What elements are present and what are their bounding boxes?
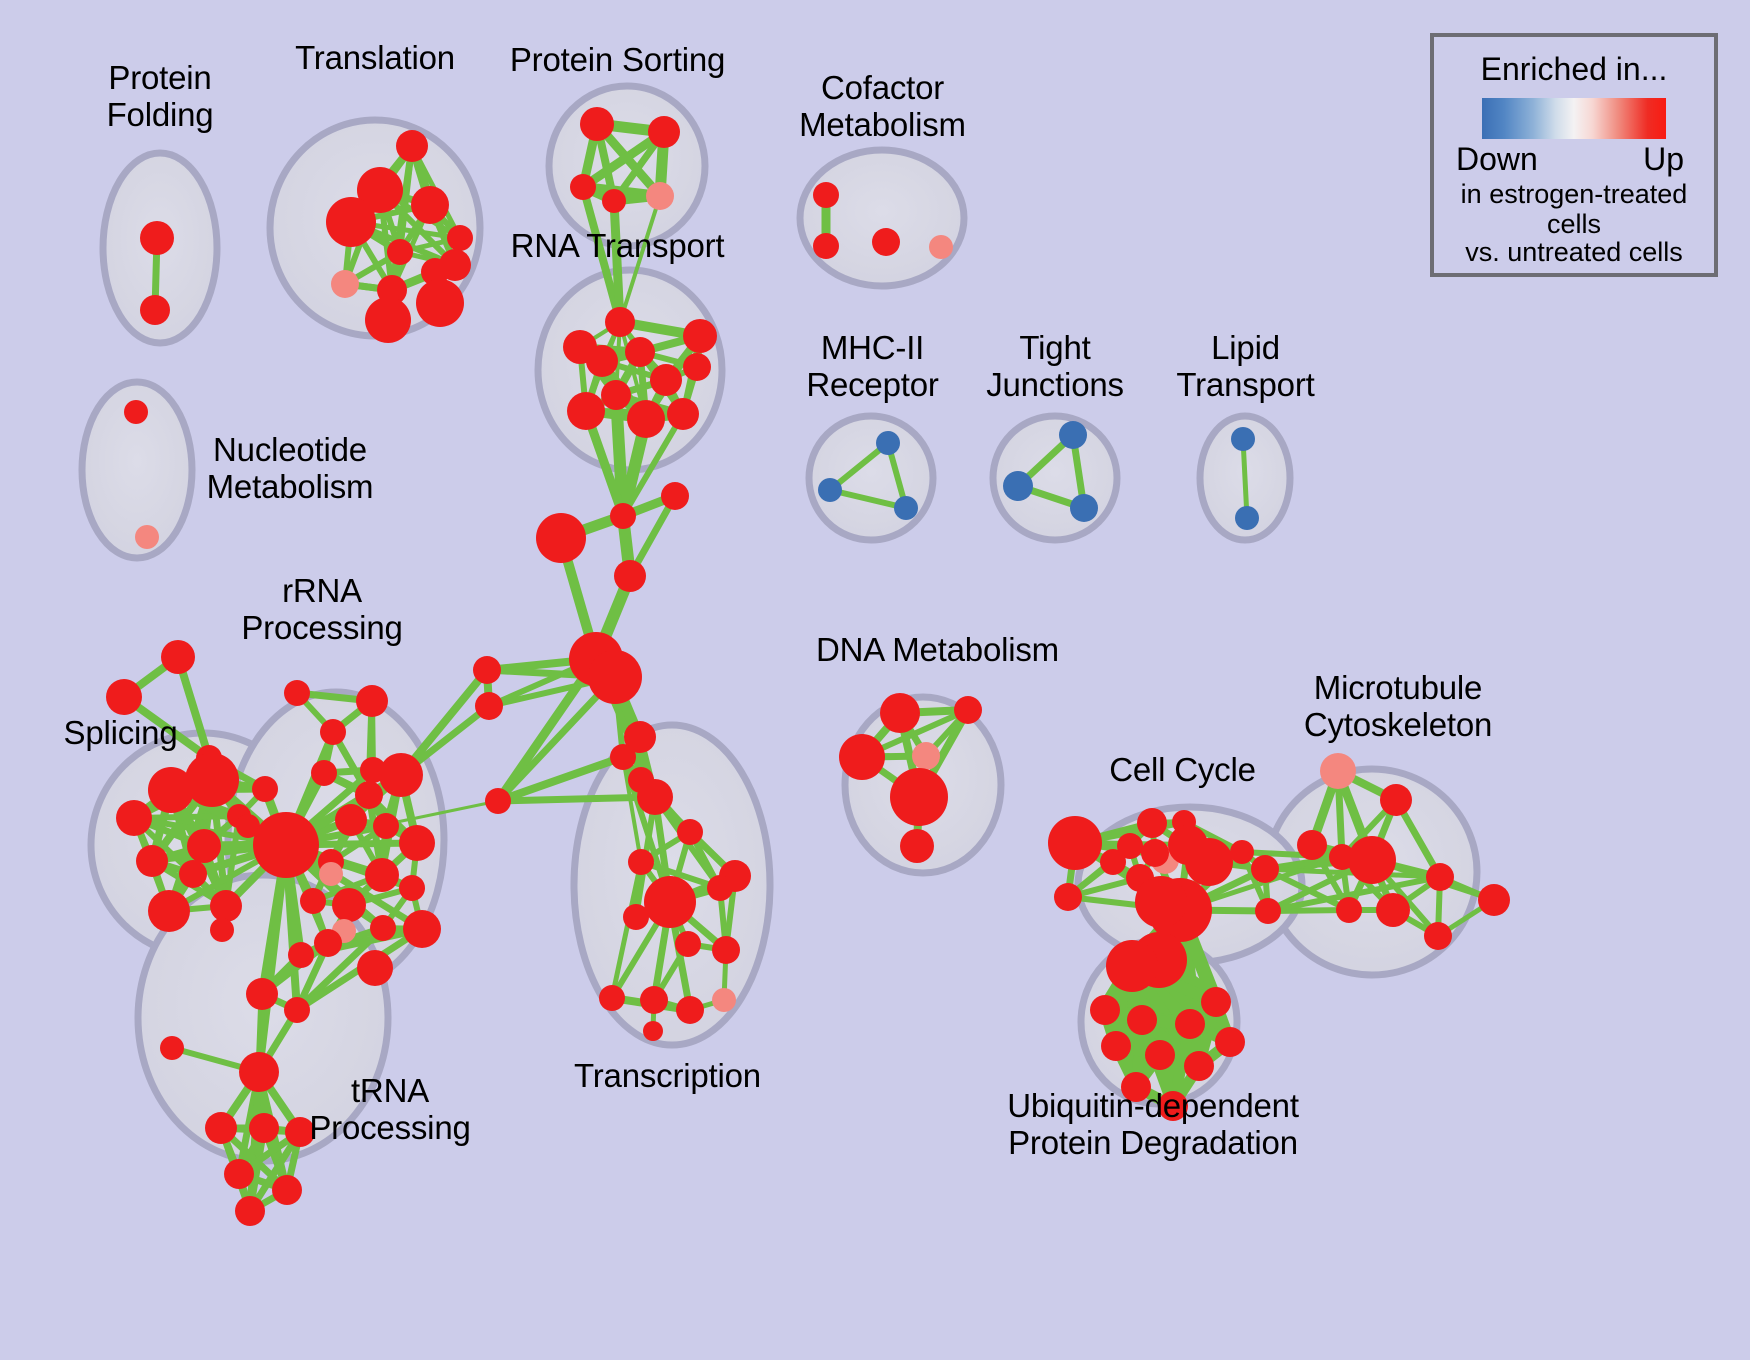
legend-title: Enriched in... <box>1434 51 1714 88</box>
cluster-label-microtubule-cytoskeleton: Microtubule Cytoskeleton <box>1273 670 1523 744</box>
legend-up-label: Up <box>1643 141 1684 178</box>
cluster-label-translation: Translation <box>270 40 480 77</box>
cluster-label-mhc-ii-receptor: MHC-II Receptor <box>785 330 960 404</box>
legend-caption-line2: vs. untreated cells <box>1434 237 1714 267</box>
cluster-label-protein-sorting: Protein Sorting <box>500 42 735 79</box>
legend-panel: Enriched in... Down Up in estrogen-treat… <box>1430 33 1718 277</box>
legend-color-bar <box>1482 98 1666 139</box>
cluster-label-lipid-transport: Lipid Transport <box>1158 330 1333 404</box>
cluster-label-tight-junctions: Tight Junctions <box>965 330 1145 404</box>
cluster-label-nucleotide-metabolism: Nucleotide Metabolism <box>195 432 385 506</box>
legend-caption-line1: in estrogen-treated cells <box>1434 179 1714 239</box>
cluster-label-splicing: Splicing <box>53 715 188 752</box>
legend-down-label: Down <box>1456 141 1538 178</box>
cluster-label-ubiquitin-protein-degradation: Ubiquitin-dependent Protein Degradation <box>988 1088 1318 1162</box>
cluster-label-trna-processing: tRNA Processing <box>290 1073 490 1147</box>
cluster-label-cell-cycle: Cell Cycle <box>1075 752 1290 789</box>
cluster-label-transcription: Transcription <box>560 1058 775 1095</box>
cluster-label-protein-folding: Protein Folding <box>85 60 235 134</box>
cluster-label-dna-metabolism: DNA Metabolism <box>810 632 1065 669</box>
cluster-label-rrna-processing: rRNA Processing <box>222 573 422 647</box>
legend-endpoints: Down Up <box>1462 141 1686 181</box>
cluster-label-cofactor-metabolism: Cofactor Metabolism <box>785 70 980 144</box>
cluster-label-rna-transport: RNA Transport <box>505 228 730 265</box>
enrichment-map-figure: .cl { fill:url(#clusterGrad); stroke:#a8… <box>0 0 1750 1360</box>
